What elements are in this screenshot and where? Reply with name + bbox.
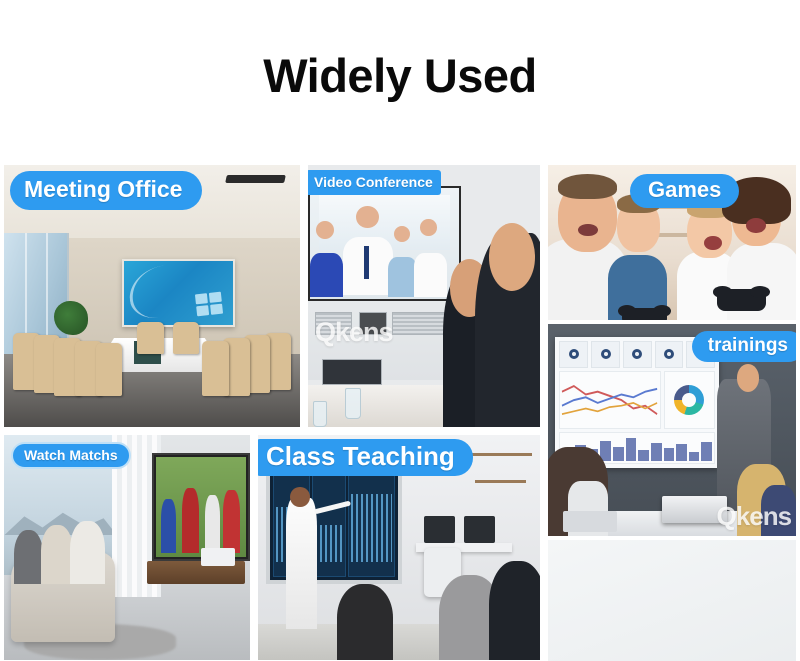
ceiling-light-icon [225,175,286,183]
game-controller-icon [717,289,767,311]
wall-shelf [475,480,526,483]
plant-icon [54,301,88,335]
panel-plug-and-play[interactable]: Plug and Play [548,540,796,661]
monitor-icon [464,516,495,543]
person-body [310,253,343,298]
chair [137,322,164,353]
viewer [14,530,44,584]
chair [202,341,229,396]
panel-games[interactable]: Games [548,165,796,320]
badge-games[interactable]: Games [630,174,739,208]
watermark-qkens: Qkens [315,317,393,348]
badge-meeting-office[interactable]: Meeting Office [10,171,202,210]
football-player [161,499,176,553]
necktie-icon [364,246,369,279]
collage-grid: Meeting Office [0,160,800,661]
badge-watch-matchs[interactable]: Watch Matchs [11,442,131,469]
charts-row [559,371,715,429]
panel-class-teaching[interactable]: Class Teaching [258,435,540,660]
donut-chart [664,371,716,429]
monitor-icon [424,516,455,543]
conference-screen [308,186,461,301]
wall-display-screen [122,259,234,327]
football-player [223,490,240,552]
audience-member [337,584,393,661]
viewer [70,521,104,584]
presenter-head [737,364,759,392]
badge-trainings[interactable]: trainings [692,331,796,362]
background [548,540,796,661]
person-body [388,257,418,297]
teacher-body [286,498,317,629]
water-glass-icon [313,401,327,427]
badge-video-conference[interactable]: Video Conference [308,170,441,195]
person-body [414,253,447,298]
line-chart [559,371,660,429]
laptop-icon [201,548,235,566]
water-glass-icon [345,388,361,419]
watermark-qkens: Qkens [717,501,792,532]
wall-vent [392,312,448,336]
person-head [489,223,535,291]
equipment-box [322,359,382,385]
panel-video-conference[interactable]: Qkens Video Conference [308,165,540,427]
badge-class-teaching[interactable]: Class Teaching [258,439,473,476]
widely-used-collage: Widely Used [0,0,800,661]
wall-shelf [470,453,532,456]
panel-trainings[interactable]: Qkens trainings [548,324,796,536]
teacher-head [290,487,310,507]
person-hair [558,174,618,199]
chair [96,343,123,395]
person-mouth [578,224,598,236]
audience-member [489,561,540,660]
television-screen [152,453,250,561]
person-mouth [704,236,721,250]
panel-watch-matchs[interactable]: Watch Matchs [4,435,250,660]
person-head [316,221,334,239]
chair [173,322,200,353]
laptop-icon [563,511,618,532]
viewer [41,525,73,584]
person-head [356,206,378,228]
football-player [182,488,199,552]
page-title: Widely Used [0,48,800,103]
football-player [205,495,220,553]
panel-meeting-office[interactable]: Meeting Office [4,165,300,427]
game-controller-icon [622,308,667,320]
person-head [420,219,436,236]
windows-logo-icon [195,292,223,317]
